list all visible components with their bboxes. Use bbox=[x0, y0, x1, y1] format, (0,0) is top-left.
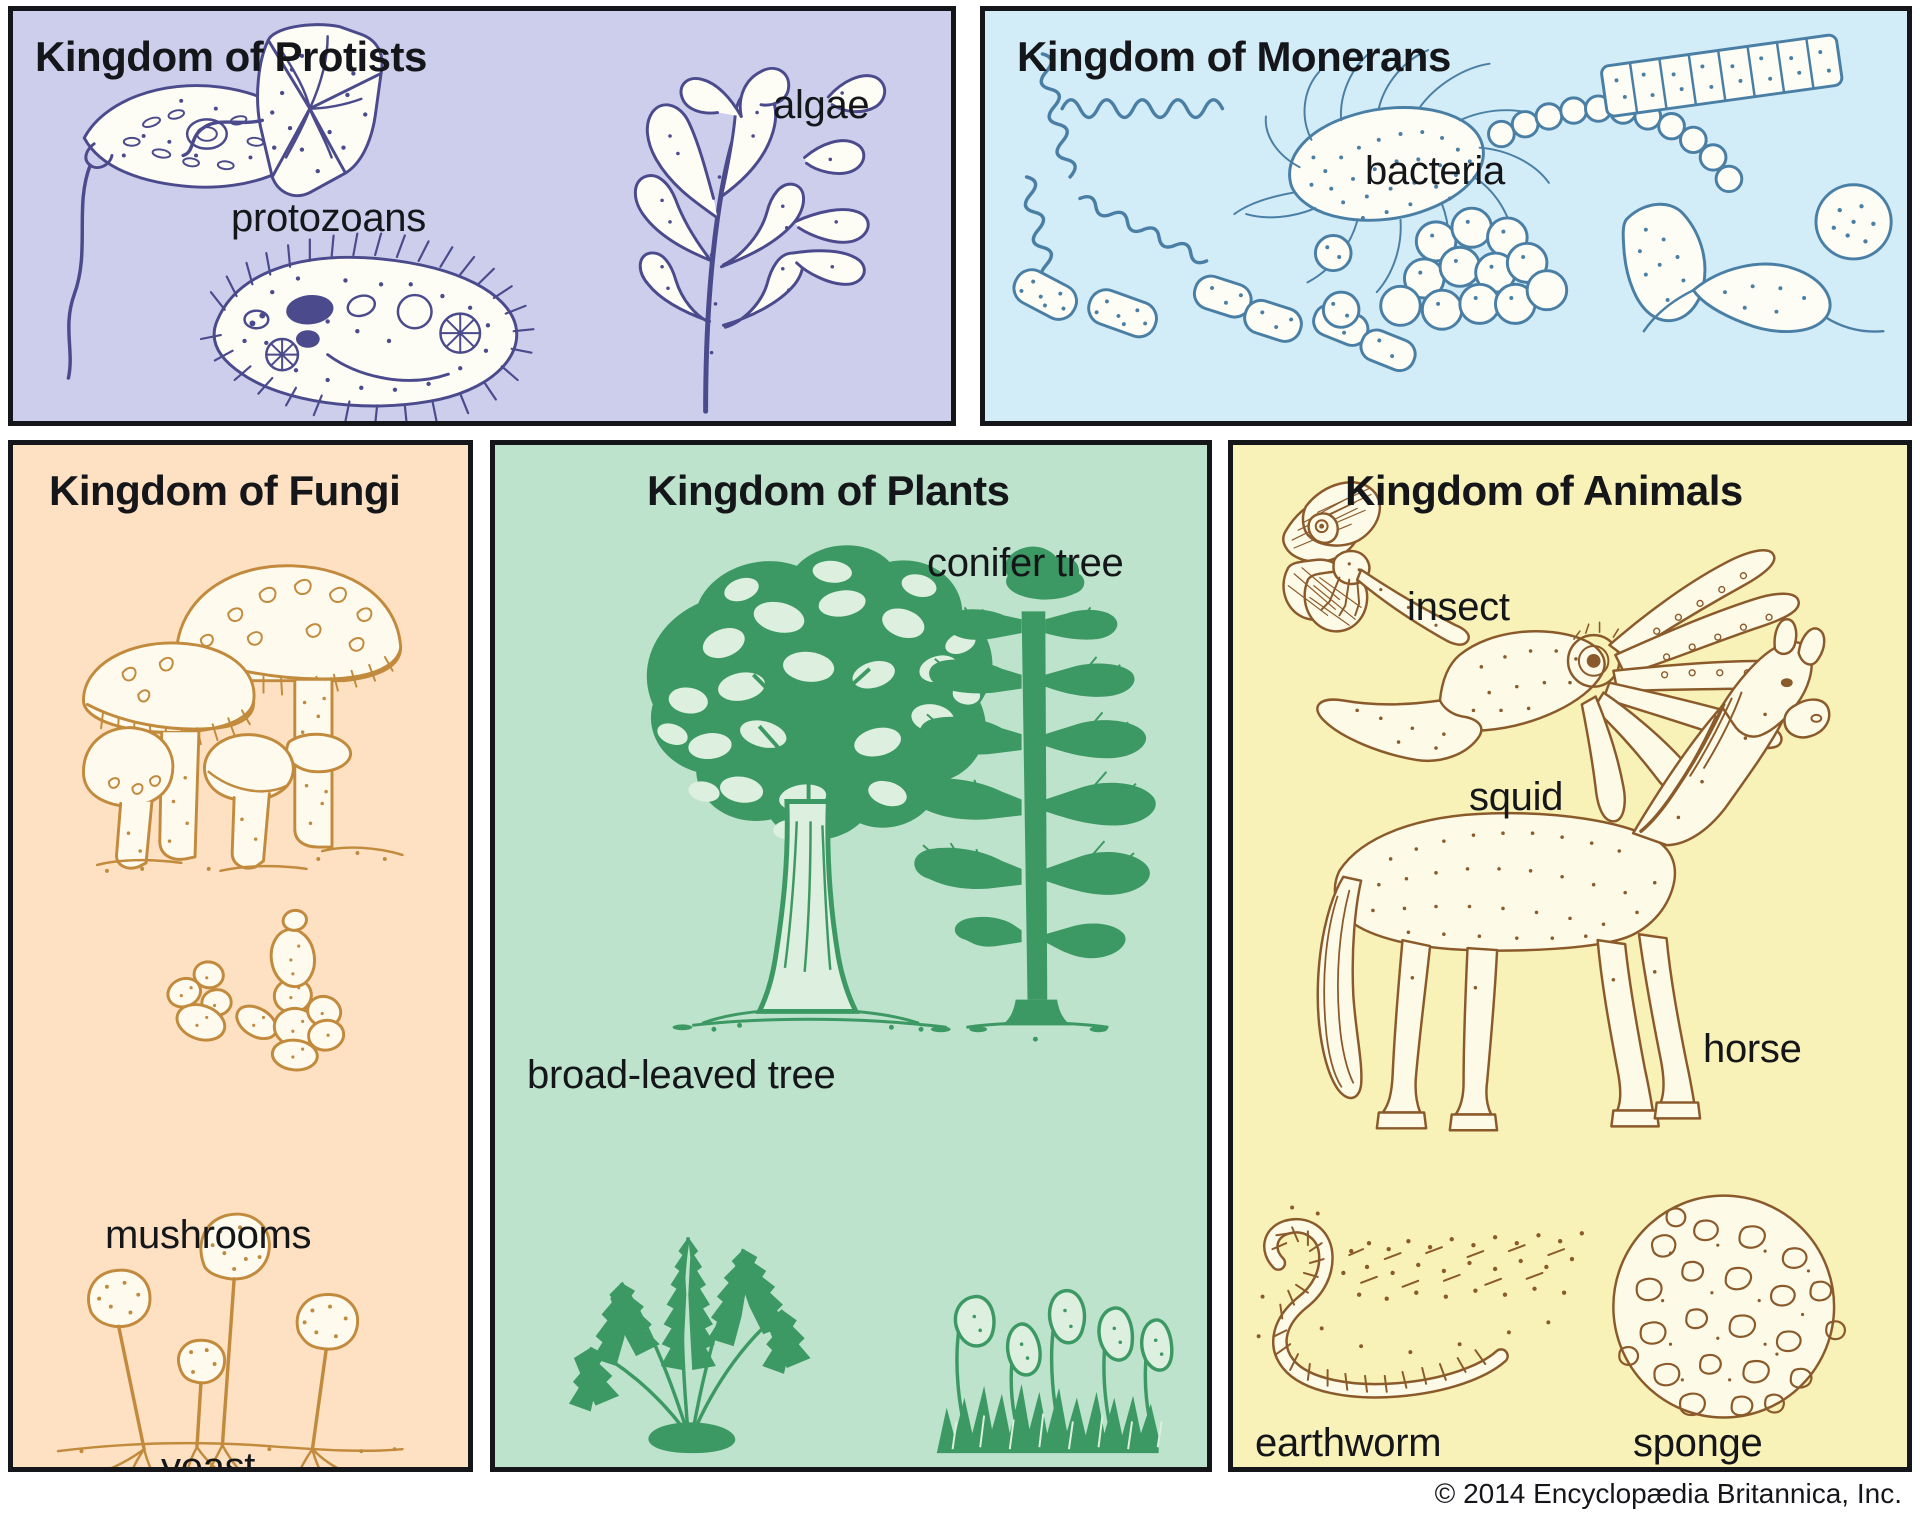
sponge-animal-art bbox=[1613, 1196, 1845, 1418]
yeast-cells-art bbox=[164, 909, 346, 1072]
label-algae: algae bbox=[773, 83, 869, 128]
animals-artwork bbox=[1233, 445, 1907, 1467]
panel-kingdom-of-monerans: Kingdom of Monerans bacteria bbox=[980, 6, 1912, 426]
vibrio-bacteria-art bbox=[1623, 185, 1891, 332]
panel-title-fungi: Kingdom of Fungi bbox=[49, 467, 400, 515]
label-squid: squid bbox=[1469, 775, 1563, 820]
moss-plant-art bbox=[937, 1291, 1172, 1454]
fern-plant-art bbox=[569, 1237, 811, 1453]
panel-kingdom-of-animals: Kingdom of Animals insect squid horse ea… bbox=[1228, 440, 1912, 1472]
streptococcus-chain-bacteria-art bbox=[1489, 96, 1742, 192]
panel-title-plants: Kingdom of Plants bbox=[647, 467, 1010, 515]
panel-kingdom-of-fungi: Kingdom of Fungi mushrooms yeast mold bbox=[8, 440, 473, 1472]
bacilli-bacteria-art bbox=[1008, 264, 1422, 375]
label-sponge: sponge bbox=[1633, 1421, 1762, 1466]
copyright-notice: © 2014 Encyclopædia Britannica, Inc. bbox=[1435, 1478, 1902, 1510]
broad-leaved-tree-art bbox=[647, 545, 993, 1032]
mushroom-cluster-art bbox=[83, 566, 402, 873]
label-horse: horse bbox=[1703, 1027, 1802, 1072]
panel-kingdom-of-protists: Kingdom of Protists protozoans algae bbox=[8, 6, 956, 426]
conifer-tree-art bbox=[910, 546, 1155, 1041]
panel-kingdom-of-plants: Kingdom of Plants conifer tree broad-lea… bbox=[490, 440, 1212, 1472]
label-conifer-tree: conifer tree bbox=[927, 541, 1124, 586]
label-protozoans: protozoans bbox=[231, 196, 426, 241]
coccus-single-bacteria-art bbox=[1315, 236, 1359, 328]
label-broad-leaved-tree: broad-leaved tree bbox=[527, 1053, 835, 1098]
fungi-artwork bbox=[13, 445, 468, 1467]
spirochete-bacteria-art bbox=[1025, 54, 1226, 318]
cocci-cluster-bacteria-art bbox=[1381, 208, 1567, 329]
label-earthworm: earthworm bbox=[1255, 1421, 1441, 1466]
label-mushrooms: mushrooms bbox=[105, 1213, 311, 1258]
plants-artwork bbox=[495, 445, 1207, 1467]
panel-title-monerans: Kingdom of Monerans bbox=[1017, 33, 1451, 81]
label-insect: insect bbox=[1407, 585, 1510, 630]
label-yeast: yeast bbox=[161, 1445, 255, 1472]
label-bacteria: bacteria bbox=[1365, 149, 1505, 194]
paramecium-protozoan-art bbox=[201, 234, 533, 421]
panel-title-protists: Kingdom of Protists bbox=[35, 33, 427, 81]
filament-cyanobacteria-art bbox=[1601, 34, 1843, 117]
earthworm-animal-art bbox=[1257, 1206, 1584, 1392]
panel-title-animals: Kingdom of Animals bbox=[1345, 467, 1743, 515]
kingdoms-diagram: Kingdom of Protists protozoans algae bbox=[0, 0, 1920, 1520]
